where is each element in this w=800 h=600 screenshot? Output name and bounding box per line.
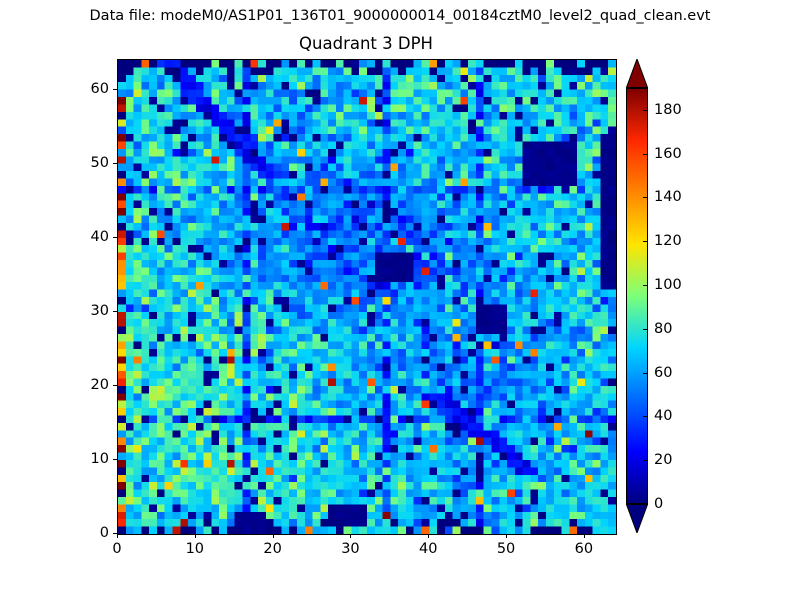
y-tick-mark [113,237,117,238]
colorbar-tick-label: 40 [654,408,672,424]
x-tick-label: 50 [497,541,515,557]
colorbar-tick-mark [643,154,648,155]
y-tick-label: 50 [65,155,109,171]
colorbar-tick-mark [643,110,648,111]
colorbar-gradient-fill [627,89,647,503]
y-tick-mark [113,89,117,90]
x-tick-mark [117,534,118,538]
colorbar-tick-mark [643,285,648,286]
y-tick-mark [113,385,117,386]
page-title: Quadrant 3 DPH [117,34,615,54]
x-tick-mark [273,534,274,538]
colorbar-tick-label: 100 [654,277,682,293]
data-file-label: Data file: modeM0/AS1P01_136T01_90000000… [0,7,800,25]
y-tick-label: 20 [65,377,109,393]
y-tick-mark [113,163,117,164]
colorbar-gradient-bar[interactable] [626,88,648,504]
colorbar-tick-label: 60 [654,365,672,381]
colorbar-over-arrow-icon [626,59,648,88]
colorbar-tick-mark [643,241,648,242]
y-tick-label: 10 [65,451,109,467]
colorbar-tick-mark [643,373,648,374]
colorbar-tick-label: 180 [654,102,682,118]
x-tick-label: 30 [341,541,359,557]
x-tick-label: 20 [263,541,281,557]
colorbar-tick-mark [643,197,648,198]
colorbar-tick-mark [643,416,648,417]
x-tick-label: 0 [112,541,121,557]
colorbar-tick-mark [643,504,648,505]
x-tick-mark [506,534,507,538]
y-tick-mark [113,311,117,312]
y-tick-label: 60 [65,81,109,97]
y-tick-label: 40 [65,229,109,245]
colorbar-tick-label: 80 [654,321,672,337]
heatmap-axes[interactable] [117,59,617,535]
y-tick-mark [113,459,117,460]
x-tick-mark [195,534,196,538]
heatmap-image[interactable] [118,60,616,534]
x-tick-mark [584,534,585,538]
colorbar-tick-label: 20 [654,452,672,468]
y-tick-mark [113,533,117,534]
x-tick-label: 40 [419,541,437,557]
colorbar[interactable] [626,59,648,533]
x-tick-label: 60 [575,541,593,557]
colorbar-under-arrow-icon [626,504,648,533]
y-tick-label: 0 [65,525,109,541]
figure-canvas: Data file: modeM0/AS1P01_136T01_90000000… [0,0,800,600]
y-tick-label: 30 [65,303,109,319]
colorbar-tick-label: 160 [654,146,682,162]
colorbar-tick-label: 120 [654,233,682,249]
colorbar-tick-mark [643,460,648,461]
colorbar-tick-label: 0 [654,496,663,512]
x-tick-mark [428,534,429,538]
x-tick-mark [350,534,351,538]
x-tick-label: 10 [186,541,204,557]
colorbar-tick-mark [643,329,648,330]
colorbar-tick-label: 140 [654,189,682,205]
